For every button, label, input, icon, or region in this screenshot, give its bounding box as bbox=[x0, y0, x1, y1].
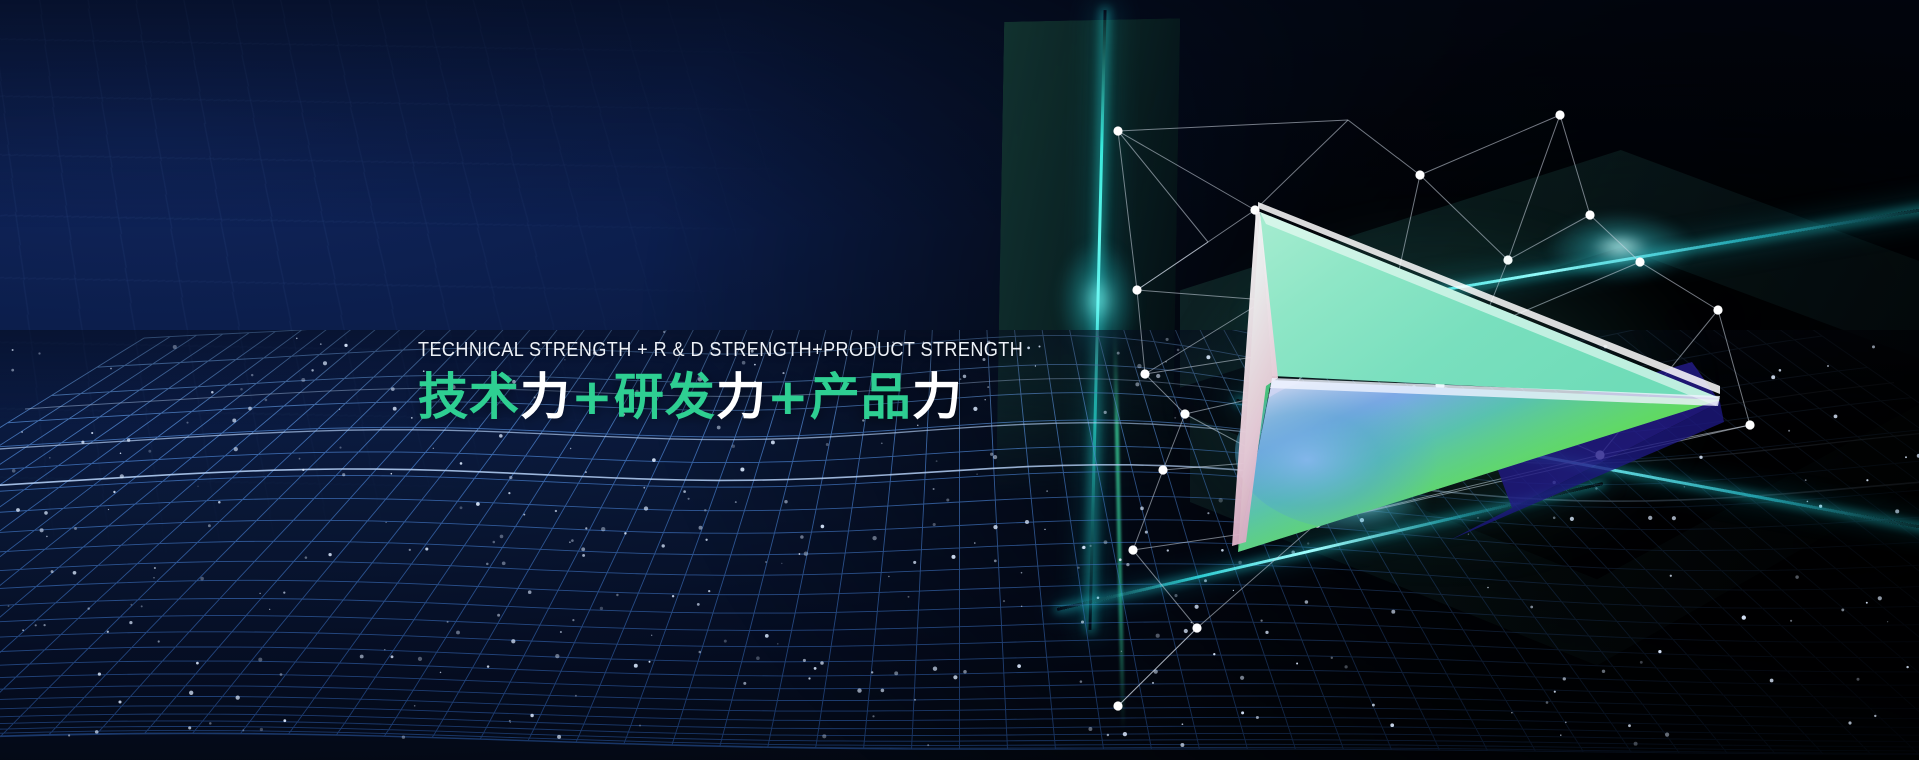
3d-play-triangle-icon bbox=[1120, 190, 1740, 590]
wire-edge bbox=[1118, 120, 1348, 131]
headline-part-1: 力 bbox=[520, 368, 571, 426]
headline-part-4: 力 bbox=[716, 368, 767, 426]
eyebrow-text: TECHNICAL STRENGTH + R & D STRENGTH+PROD… bbox=[418, 340, 964, 361]
page-title: 技术力+研发力+产品力 bbox=[418, 371, 1038, 424]
hero-banner: TECHNICAL STRENGTH + R & D STRENGTH+PROD… bbox=[0, 0, 1919, 760]
headline-part-7: 力 bbox=[912, 368, 963, 426]
headline-block: TECHNICAL STRENGTH + R & D STRENGTH+PROD… bbox=[418, 340, 1038, 424]
headline-part-0: 技术 bbox=[418, 368, 520, 426]
wire-node bbox=[1113, 701, 1122, 710]
headline-part-3: 研发 bbox=[614, 368, 716, 426]
wire-node bbox=[1113, 126, 1122, 135]
headline-part-6: 产品 bbox=[810, 368, 912, 426]
wire-node bbox=[1555, 110, 1564, 119]
triangle-inner-blue-glow bbox=[1235, 374, 1475, 530]
headline-part-5: + bbox=[767, 368, 810, 426]
wire-edge bbox=[1118, 628, 1197, 706]
headline-part-2: + bbox=[571, 368, 614, 426]
